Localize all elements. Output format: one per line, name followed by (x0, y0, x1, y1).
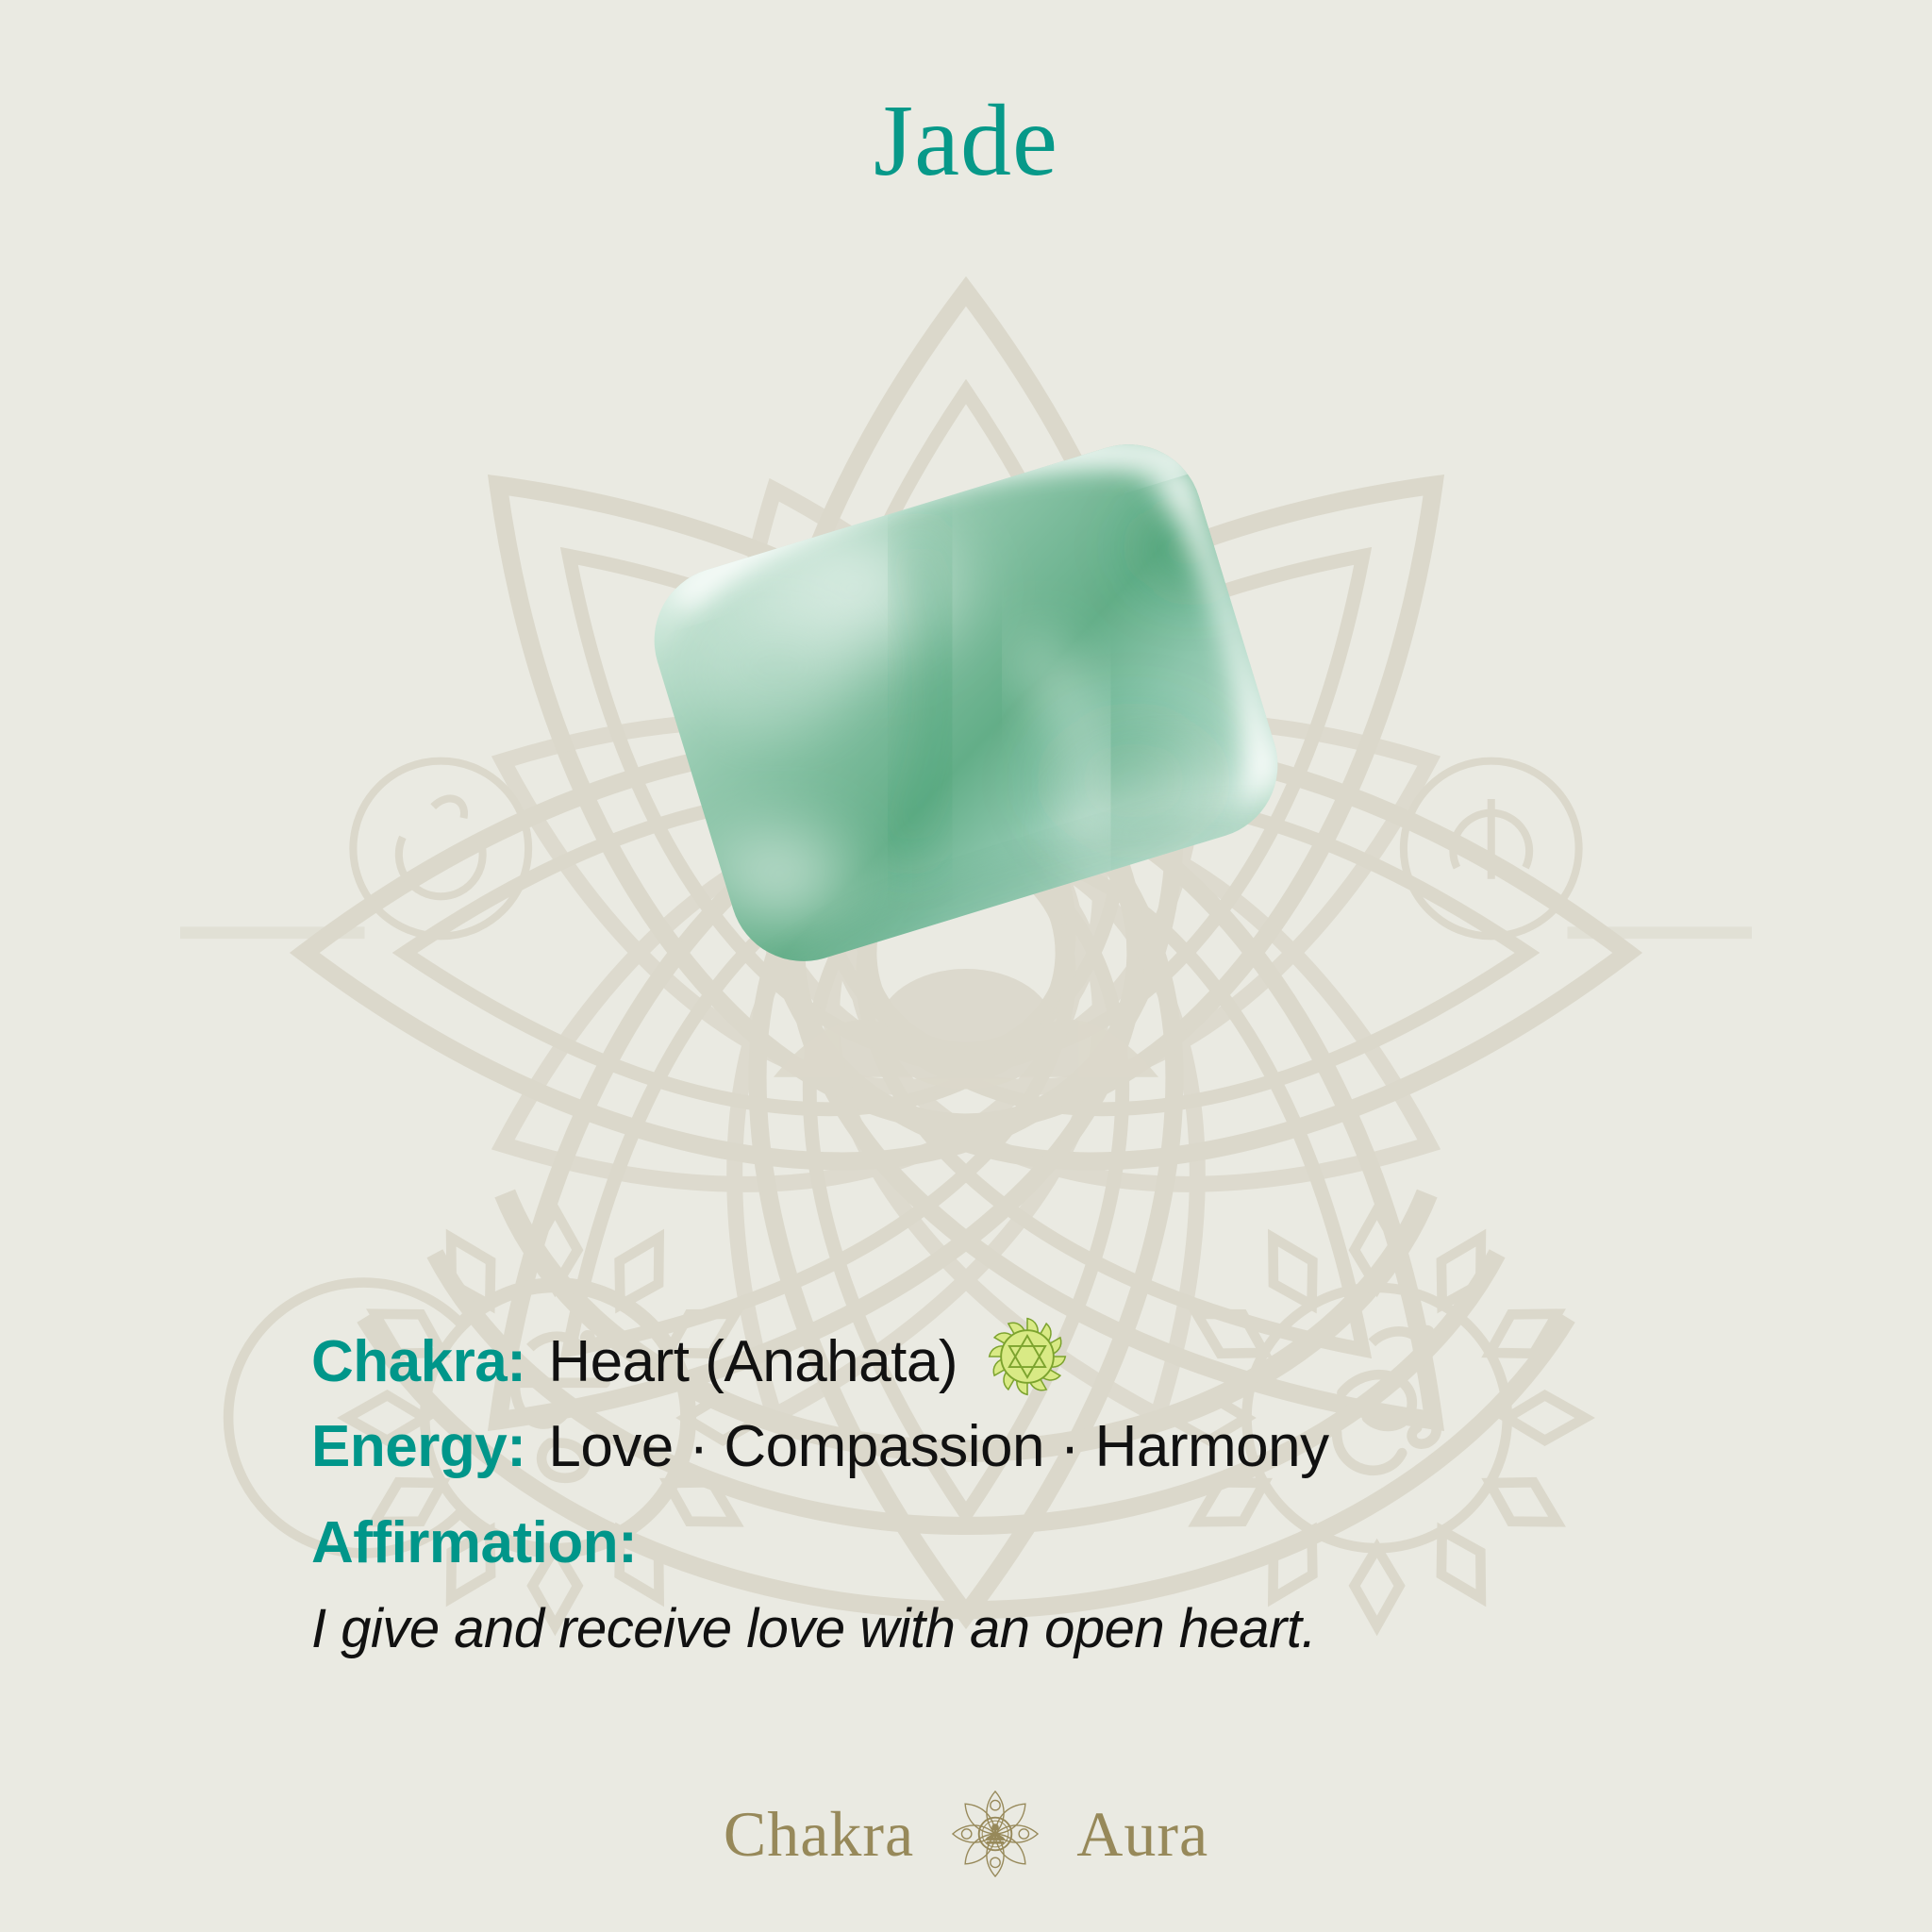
chakra-row: Chakra: Heart (Anahata) (311, 1291, 1651, 1394)
energy-row: Energy: Love · Compassion · Harmony (311, 1415, 1651, 1479)
energy-value: Love · Compassion · Harmony (548, 1415, 1328, 1479)
affirmation-row: Affirmation: I give and receive love wit… (311, 1511, 1651, 1658)
affirmation-value: I give and receive love with an open hea… (311, 1599, 1651, 1659)
brand-word-aura: Aura (1076, 1802, 1208, 1866)
brand-word-chakra: Chakra (724, 1802, 914, 1866)
jade-stone-image (494, 316, 1438, 1090)
energy-label: Energy: (311, 1415, 525, 1479)
crystal-info-card: Jade (0, 0, 1932, 1932)
chakra-label: Chakra: (311, 1330, 525, 1394)
heart-chakra-anahata-icon (982, 1311, 1073, 1402)
brand-logo: Chakra (0, 1785, 1932, 1883)
affirmation-label: Affirmation: (311, 1511, 1651, 1575)
lotus-mandala-meditation-logo-icon (946, 1785, 1044, 1883)
chakra-value: Heart (Anahata) (548, 1330, 958, 1394)
crystal-attributes: Chakra: Heart (Anahata) (311, 1291, 1651, 1658)
page-title: Jade (0, 91, 1932, 192)
